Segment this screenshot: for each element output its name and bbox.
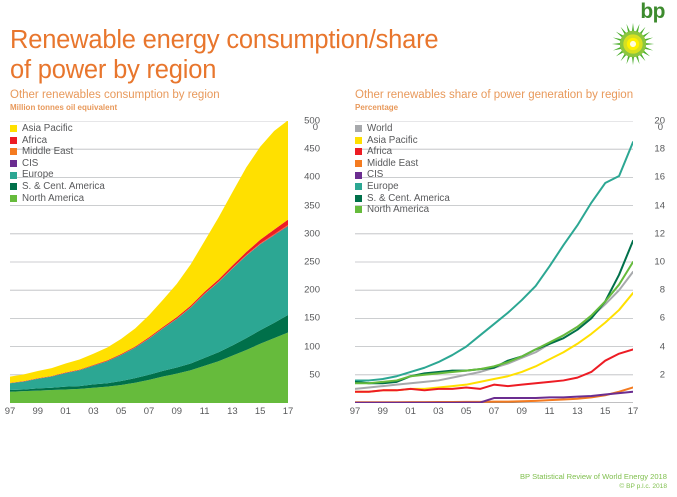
x-tick-label: 05: [461, 406, 472, 417]
legend-swatch-icon: [355, 160, 362, 167]
legend-swatch-icon: [355, 183, 362, 190]
legend-label: S. & Cent. America: [367, 193, 450, 205]
plot-wrap-consumption: Asia PacificAfricaMiddle EastCISEuropeS.…: [10, 121, 322, 421]
legend-item-s-cent-america[interactable]: S. & Cent. America: [10, 181, 105, 193]
legend-item-cis[interactable]: CIS: [355, 169, 450, 181]
x-tick-label: 07: [489, 406, 500, 417]
x-tick-label: 03: [88, 406, 99, 417]
bp-helios-icon: [611, 22, 655, 66]
footer: BP Statistical Review of World Energy 20…: [520, 472, 667, 491]
legend-item-europe[interactable]: Europe: [355, 181, 450, 193]
x-tick-label: 15: [600, 406, 611, 417]
legend-item-asia-pacific[interactable]: Asia Pacific: [355, 135, 450, 147]
x-tick-label: 11: [200, 406, 210, 417]
legend-share: WorldAsia PacificAfricaMiddle EastCISEur…: [355, 123, 450, 216]
x-tick-label: 01: [405, 406, 416, 417]
x-tick-label: 17: [628, 406, 639, 417]
legend-swatch-icon: [10, 125, 17, 132]
x-tick-label: 01: [60, 406, 71, 417]
legend-item-cis[interactable]: CIS: [10, 158, 105, 170]
x-tick-label: 99: [33, 406, 44, 417]
legend-item-north-america[interactable]: North America: [355, 204, 450, 216]
legend-item-middle-east[interactable]: Middle East: [355, 158, 450, 170]
legend-label: North America: [367, 204, 429, 216]
legend-swatch-icon: [355, 206, 362, 213]
x-tick-label: 97: [350, 406, 361, 417]
legend-label: World: [367, 123, 392, 135]
x-tick-label: 11: [545, 406, 555, 417]
x-tick-label: 13: [227, 406, 238, 417]
plot-wrap-share: WorldAsia PacificAfricaMiddle EastCISEur…: [355, 121, 667, 421]
x-axis-zero-label-share: 0: [658, 122, 663, 421]
legend-label: Asia Pacific: [367, 135, 418, 147]
x-tick-label: 05: [116, 406, 127, 417]
legend-item-africa[interactable]: Africa: [355, 146, 450, 158]
chart-title-share: Other renewables share of power generati…: [355, 88, 667, 102]
chart-subtitle-share: Percentage: [355, 103, 667, 113]
legend-label: Middle East: [367, 158, 418, 170]
legend-swatch-icon: [10, 148, 17, 155]
x-tick-label: 97: [5, 406, 16, 417]
x-tick-label: 09: [172, 406, 183, 417]
x-tick-label: 07: [144, 406, 155, 417]
x-axis-consumption: 9799010305070911131517: [10, 405, 288, 421]
footer-copyright: © BP p.l.c. 2018: [520, 482, 667, 492]
legend-item-s-cent-america[interactable]: S. & Cent. America: [355, 193, 450, 205]
x-tick-label: 09: [517, 406, 528, 417]
legend-label: CIS: [367, 169, 383, 181]
legend-label: North America: [22, 193, 84, 205]
bp-wordmark: bp: [640, 2, 665, 22]
x-tick-label: 15: [255, 406, 266, 417]
legend-swatch-icon: [355, 195, 362, 202]
legend-label: CIS: [22, 158, 38, 170]
page-title: Renewable energy consumption/share of po…: [10, 25, 570, 85]
x-tick-label: 03: [433, 406, 444, 417]
chart-title-consumption: Other renewables consumption by region: [10, 88, 322, 102]
legend-label: Asia Pacific: [22, 123, 73, 135]
chart-panel-share: Other renewables share of power generati…: [355, 88, 667, 421]
bp-logo: bp: [603, 2, 669, 66]
legend-swatch-icon: [10, 160, 17, 167]
legend-swatch-icon: [10, 195, 17, 202]
legend-label: Europe: [22, 169, 54, 181]
x-tick-label: 13: [572, 406, 583, 417]
legend-label: Middle East: [22, 146, 73, 158]
x-tick-label: 99: [378, 406, 389, 417]
legend-label: Europe: [367, 181, 399, 193]
chart-panel-consumption: Other renewables consumption by region M…: [10, 88, 322, 421]
legend-item-europe[interactable]: Europe: [10, 169, 105, 181]
legend-item-africa[interactable]: Africa: [10, 135, 105, 147]
x-tick-label: 17: [283, 406, 294, 417]
legend-swatch-icon: [355, 148, 362, 155]
footer-source: BP Statistical Review of World Energy 20…: [520, 472, 667, 482]
legend-swatch-icon: [355, 125, 362, 132]
legend-swatch-icon: [355, 172, 362, 179]
legend-label: Africa: [367, 146, 392, 158]
legend-swatch-icon: [10, 183, 17, 190]
legend-item-middle-east[interactable]: Middle East: [10, 146, 105, 158]
chart-subtitle-consumption: Million tonnes oil equivalent: [10, 103, 322, 113]
legend-swatch-icon: [10, 172, 17, 179]
legend-label: Africa: [22, 135, 47, 147]
page-title-line-1: Renewable energy consumption/share: [10, 25, 570, 55]
x-axis-share: 9799010305070911131517: [355, 405, 633, 421]
page-title-line-2: of power by region: [10, 55, 570, 85]
legend-consumption: Asia PacificAfricaMiddle EastCISEuropeS.…: [10, 123, 105, 204]
legend-swatch-icon: [10, 137, 17, 144]
legend-item-asia-pacific[interactable]: Asia Pacific: [10, 123, 105, 135]
legend-item-world[interactable]: World: [355, 123, 450, 135]
x-axis-zero-label-consumption: 0: [313, 122, 318, 421]
legend-swatch-icon: [355, 137, 362, 144]
legend-label: S. & Cent. America: [22, 181, 105, 193]
legend-item-north-america[interactable]: North America: [10, 193, 105, 205]
